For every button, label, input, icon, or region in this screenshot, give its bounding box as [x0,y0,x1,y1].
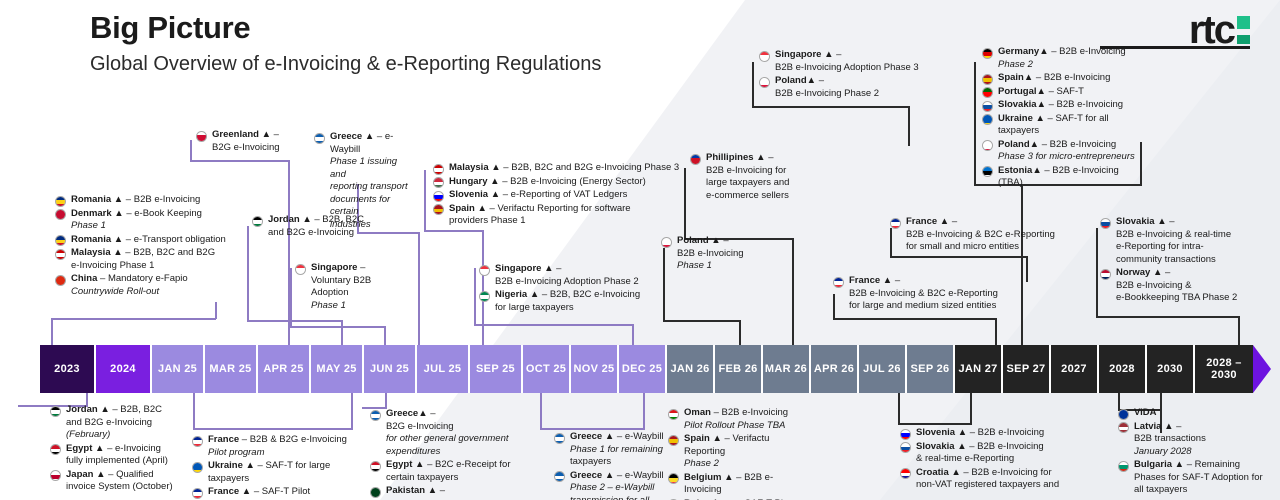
annotation-detail: ▲ – [1155,216,1175,227]
annotation-malaysia-group: Malaysia ▲ – B2B, B2C and B2G e-Invoicin… [433,162,688,229]
annotation-main-line: Slovakia ▲ – [1116,216,1175,227]
timeline-segment[interactable]: DEC 25 [619,345,667,393]
annotation-france-small: France ▲ –B2B e-Invoicing & B2C e-Report… [890,216,1055,255]
annotation-row: Spain ▲ – Verifactu Reporting for softwa… [433,203,688,228]
connector [739,320,741,346]
annotation-phillipines: Phillipines ▲ –B2B e-Invoicing forlarge … [690,152,798,203]
page-title: Big Picture [90,10,601,46]
annotation-main-line: Singapore ▲ – [775,49,841,60]
connector [357,232,419,234]
connector [290,268,292,328]
annotation-text: Latvia ▲ –B2B transactionsJanuary 2028 [1134,421,1280,459]
country-name: Greece [386,408,418,419]
connector [995,318,997,346]
annotation-detail: ▲ – e-Waybill [602,431,663,442]
annotation-detail: ▲ – e-Waybill [602,470,663,481]
annotation-detail: ▲ – e-Book Keeping [112,208,202,219]
annotation-text: Japan ▲ – Qualifiedinvoice System (Octob… [66,469,180,494]
annotation-main-line: Singapore – [311,262,365,273]
annotation-text: Jordan ▲ – B2B, B2Cand B2G e-Invoicing [268,214,364,239]
annotation-subline: Phase 2 – e-Waybill [570,482,664,495]
annotation-detail: ▲ – B2B, B2C and B2G [111,247,215,258]
annotation-text: Estonia▲ – B2B e-Invoicing (TBA) [998,165,1142,190]
annotation-main-line: Greenland ▲ – [212,129,279,140]
annotation-text: Bulgaria ▲ – RemainingPhases for SAF-T A… [1134,459,1280,497]
annotation-row: Slovenia ▲ – e-Reporting of VAT Ledgers [433,189,688,202]
annotation-text: Slovakia ▲ –B2B e-Invoicing & real-timee… [1116,216,1250,266]
spain-flag [668,435,679,446]
connector [663,320,741,322]
annotation-detail: ▲ – [1161,421,1181,432]
annotation-subline: Phase 1 issuing and [330,156,414,181]
bulgaria-flag [1118,461,1129,472]
annotation-detail: ▲ – e-Transport obligation [111,234,226,245]
annotation-row: Jordan ▲ – B2B, B2Cand B2G e-Invoicing [252,214,364,239]
annotation-detail: ▲ – [807,75,824,86]
annotation-detail: – Mandatory e-Fapio [97,273,187,284]
annotation-row: Egypt ▲ – B2C e-Receipt forcertain taxpa… [370,459,525,484]
annotation-detail: ▲ – B2B e-Invoicing [955,427,1044,438]
connector [898,393,900,425]
annotation-row: Bulgaria ▲ – RemainingPhases for SAF-T A… [1118,459,1280,497]
timeline-segment[interactable]: SEP 27 [1003,345,1051,393]
annotation-row: Poland ▲ –B2B e-InvoicingPhase 1 [661,235,756,273]
country-name: Greece [570,470,602,481]
annotation-text: Jordan ▲ – B2B, B2Cand B2G e-Invoicing(F… [66,404,180,442]
ukraine-flag [192,462,203,473]
connector [190,160,290,162]
connector [215,302,217,319]
slovakia-flag [900,442,911,453]
annotation-greece-b2g: Greece▲ –B2G e-Invoicingfor other genera… [370,408,525,499]
annotation-text: Phillipines ▲ –B2B e-Invoicing forlarge … [706,152,798,202]
annotation-row: Belgium ▲ – B2B e-Invoicing [668,472,803,497]
connector [540,393,542,429]
annotation-detail: ▲ – [754,152,774,163]
annotation-greece-waybill-2: Greece ▲ – e-WaybillPhase 1 for remainin… [554,431,664,500]
annotation-france-pilot: France – B2B & B2G e-InvoicingPilot prog… [192,434,347,500]
connector [908,106,910,146]
connector [974,62,976,184]
connector [190,140,192,162]
connector [384,326,386,346]
annotation-main-line: France ▲ – [849,275,900,286]
timeline-segment[interactable]: 2028 – 2030 [1195,345,1253,393]
timeline-segment[interactable]: APR 26 [811,345,859,393]
timeline-segment[interactable]: JAN 27 [955,345,1003,393]
annotation-detail: – [357,262,365,273]
annotation-detail: ▲ – B2B e-Invoicing (Energy Sector) [488,176,646,187]
portugal-flag [982,87,993,98]
timeline-segment[interactable]: MAR 25 [205,345,258,393]
annotation-text: Germany▲ – B2B e-InvoicingPhase 2 [998,46,1142,71]
country-name: Croatia [916,467,949,478]
france-flag [890,218,901,229]
connector [247,226,249,322]
france-flag [192,488,203,499]
annotation-text: Greece▲ –B2G e-Invoicingfor other genera… [386,408,525,458]
annotation-main-line: Poland ▲ – [677,235,729,246]
timeline-segment[interactable]: 2023 [40,345,96,393]
connector [1096,316,1240,318]
annotation-jordan-2: Jordan ▲ – B2B, B2Cand B2G e-Invoicing [252,214,364,240]
timeline-segment[interactable]: NOV 25 [571,345,619,393]
country-name: Poland [775,75,807,86]
country-name: Singapore [311,262,357,273]
annotation-text: Poland▲ –B2B e-Invoicing Phase 2 [775,75,929,100]
annotation-subline: Phase 3 for micro-entrepreneurs [998,151,1142,164]
jordan-flag [252,216,263,227]
annotation-text: France ▲ – SAF-T Pilot [208,486,347,499]
annotation-detail: ▲ – [709,235,729,246]
singapore-flag [295,264,306,275]
slovakia-flag [982,101,993,112]
annotation-main-line: Nigeria ▲ – B2B, B2C e-Invoicing [495,289,640,300]
norway-flag [1100,269,1111,280]
annotation-main-line: Spain ▲ – Verifactu Reporting [684,433,769,457]
annotation-romania-2023: Romania ▲ – B2B e-InvoicingDenmark ▲ – e… [55,194,230,299]
annotation-subline: Pilot program [208,447,347,460]
annotation-singapore-2: Singapore ▲ –B2B e-Invoicing Adoption Ph… [479,263,649,315]
annotation-subline: B2B transactions [1134,433,1280,446]
annotation-singapore-3: Singapore ▲ –B2B e-Invoicing Adoption Ph… [759,49,929,101]
annotation-main-line: Portugal▲ – SAF-T [998,86,1084,97]
annotation-main-line: Egypt ▲ – e-Invoicing [66,443,161,454]
annotation-subline: Phase 2 [684,458,803,471]
annotation-row: Malaysia ▲ – B2B, B2C and B2G e-Invoicin… [433,162,688,175]
connector [890,256,1028,258]
annotation-main-line: Romania ▲ – e-Transport obligation [71,234,226,245]
jordan-flag [50,406,61,417]
country-name: Bulgaria [1134,459,1172,470]
annotation-slovakia-norway: Slovakia ▲ –B2B e-Invoicing & real-timee… [1100,216,1250,306]
annotation-subline: Adoption [311,287,385,300]
germany-flag [982,48,993,59]
connector [632,324,634,346]
annotation-subline: taxpayers [570,456,664,469]
timeline-segment[interactable]: 2028 [1099,345,1147,393]
annotation-text: France – B2B & B2G e-InvoicingPilot prog… [208,434,347,459]
timeline-segment[interactable]: SEP 25 [470,345,523,393]
country-name: Romania [71,194,111,205]
annotation-row: Slovakia ▲ – B2B e-Invoicing& real-time … [900,441,1080,466]
denmark-flag [55,209,66,220]
annotation-row: Hungary ▲ – B2B e-Invoicing (Energy Sect… [433,176,688,189]
greece-flag [554,471,565,482]
connector [752,62,754,108]
annotation-germany-group: Germany▲ – B2B e-InvoicingPhase 2Spain▲ … [982,46,1142,191]
annotation-main-line: Norway ▲ – [1116,267,1170,278]
timeline-segment[interactable]: JUL 25 [417,345,470,393]
annotation-subline: large taxpayers and [706,177,798,190]
connector [1026,256,1028,282]
annotation-row: Oman – B2B e-InvoicingPilot Rollout Phas… [668,407,803,432]
connector [418,232,420,346]
annotation-main-line: Latvia ▲ – [1134,421,1181,432]
annotation-row: Nigeria ▲ – B2B, B2C e-Invoicingfor larg… [479,289,649,314]
annotation-main-line: France ▲ – [906,216,957,227]
annotation-subline: Phase 1 [677,260,756,273]
france-flag [192,436,203,447]
timeline-segment[interactable]: APR 25 [258,345,311,393]
annotation-detail: ▲ – B2B, B2C [300,214,364,225]
connector [193,428,353,430]
annotation-text: Romania ▲ – B2B e-Invoicing [71,194,230,207]
annotation-subline: Phase 2 [998,59,1142,72]
annotation-detail: ▲ – Qualified [93,469,153,480]
annotation-row: Egypt ▲ – e-Invoicingfully implemented (… [50,443,180,468]
annotation-detail: ▲ – B2B e-Invoicing [111,194,200,205]
timeline-segment[interactable]: JUN 25 [364,345,417,393]
annotation-text: Spain ▲ – Verifactu ReportingPhase 2 [684,433,803,471]
annotation-main-line: Malaysia ▲ – B2B, B2C and B2G [71,247,215,258]
logo-underline [1100,46,1250,49]
annotation-text: Slovenia ▲ – B2B e-Invoicing [916,427,1080,440]
annotation-subline: B2B e-Invoicing & B2C e-Reporting [849,288,1008,301]
annotation-text: Belgium ▲ – B2B e-Invoicing [684,472,803,497]
annotation-text: France ▲ –B2B e-Invoicing & B2C e-Report… [849,275,1008,313]
annotation-row: France ▲ –B2B e-Invoicing & B2C e-Report… [833,275,1008,313]
annotation-main-line: Spain ▲ – Verifactu Reporting for softwa… [449,203,631,214]
china-flag [55,275,66,286]
country-name: Portugal [998,86,1037,97]
annotation-detail: ▲ – B2B e-Invoicing [1030,139,1117,150]
annotation-row: Greenland ▲ –B2G e-Invoicing [196,129,291,154]
annotation-row: Ukraine ▲ – SAF-T for all taxpayers [982,113,1142,138]
annotation-text: Greece ▲ – e-WaybillPhase 1 for remainin… [570,431,664,469]
annotation-subline: B2B e-Invoicing for [706,165,798,178]
malaysia-flag [55,249,66,260]
timeline-arrow-icon [1253,345,1271,393]
connector [51,318,216,320]
country-name: Nigeria [495,289,527,300]
connector [424,170,426,232]
timeline-segment[interactable]: 2027 [1051,345,1099,393]
annotation-row: Jordan ▲ – B2B, B2Cand B2G e-Invoicing(F… [50,404,180,442]
annotation-main-line: Spain▲ – B2B e-Invoicing [998,72,1110,83]
annotation-row: Pakistan ▲ – [370,485,525,498]
country-name: Malaysia [449,162,489,173]
annotation-france-large: France ▲ –B2B e-Invoicing & B2C e-Report… [833,275,1008,314]
annotation-row: Spain▲ – B2B e-Invoicing [982,72,1142,85]
annotation-row: Poland▲ –B2B e-Invoicing Phase 2 [759,75,929,100]
greece-flag [554,433,565,444]
slovenia-flag [433,191,444,202]
connector [424,230,484,232]
annotation-main-line: Egypt ▲ – B2C e-Receipt for [386,459,511,470]
annotation-detail: – B2B & B2G e-Invoicing [239,434,347,445]
annotation-subline: B2B e-Invoicing & [1116,280,1250,293]
annotation-subline: transmission for all [570,495,664,500]
connector [51,318,53,346]
annotation-slovenia-group: Slovenia ▲ – B2B e-InvoicingSlovakia ▲ –… [900,427,1080,493]
annotation-main-line: Croatia ▲ – B2B e-Invoicing for [916,467,1052,478]
country-name: China [71,273,97,284]
annotation-main-line: Belgium ▲ – B2B e-Invoicing [684,472,773,496]
annotation-main-line: Jordan ▲ – B2B, B2C [66,404,162,415]
annotation-jordan-2023: Jordan ▲ – B2B, B2Cand B2G e-Invoicing(F… [50,404,180,495]
annotation-text: China – Mandatory e-FapioCountrywide Rol… [71,273,230,298]
timeline-segment[interactable]: FEB 26 [715,345,763,393]
annotation-text: Malaysia ▲ – B2B, B2C and B2G e-Invoicin… [449,162,688,175]
connector [970,393,972,425]
greece-flag [370,410,381,421]
croatia-flag [900,468,911,479]
annotation-subline: and B2G e-Invoicing [66,417,180,430]
connector [752,106,910,108]
slovenia-flag [900,429,911,440]
annotation-main-line: Slovakia▲ – B2B e-Invoicing [998,99,1123,110]
country-name: Egypt [66,443,92,454]
annotation-subline: certain taxpayers [386,472,525,485]
annotation-subline: fully implemented (April) [66,455,180,468]
connector [792,238,794,346]
annotation-text: Romania ▲ – e-Transport obligation [71,234,230,247]
annotation-text: Slovakia▲ – B2B e-Invoicing [998,99,1142,112]
country-name: Latvia [1134,421,1161,432]
annotation-subline: community transactions [1116,254,1250,267]
annotation-subline: taxpayers [208,473,347,486]
annotation-subline: Countrywide Roll-out [71,286,230,299]
annotation-row: Slovakia▲ – B2B e-Invoicing [982,99,1142,112]
timeline-segment[interactable]: JAN 26 [667,345,715,393]
country-name: Estonia [998,165,1032,176]
annotation-subline: invoice System (October) [66,481,180,494]
annotation-subline: & real-time e-Reporting [916,453,1080,466]
annotation-subline: e-commerce sellers [706,190,798,203]
annotation-text: Nigeria ▲ – B2B, B2C e-Invoicingfor larg… [495,289,649,314]
annotation-main-line: Bulgaria ▲ – Remaining [1134,459,1240,470]
infographic-root: Big Picture Global Overview of e-Invoici… [0,0,1280,500]
annotation-subline: expenditures [386,446,525,459]
country-name: Denmark [71,208,112,219]
annotation-text: Egypt ▲ – B2C e-Receipt forcertain taxpa… [386,459,525,484]
romania-flag [55,196,66,207]
annotation-text: Pakistan ▲ – [386,485,525,498]
annotation-row: France ▲ –B2B e-Invoicing & B2C e-Report… [890,216,1055,254]
annotation-subline: January 2028 [1134,446,1280,459]
pakistan-flag [370,487,381,498]
annotation-main-line: Oman – B2B e-Invoicing [684,407,788,418]
timeline-segment[interactable]: JAN 25 [152,345,205,393]
annotation-subline: for large and medium sized entities [849,300,1008,313]
annotation-main-line: ViDA [1134,407,1157,418]
annotation-main-line: Slovenia ▲ – B2B e-Invoicing [916,427,1044,438]
country-name: Hungary [449,176,488,187]
timeline-segment[interactable]: MAR 26 [763,345,811,393]
annotation-main-line: Poland▲ – [775,75,824,86]
country-name: Slovakia [916,441,955,452]
belgium-flag [668,473,679,484]
annotation-row: Singapore –Voluntary B2BAdoptionPhase 1 [295,262,385,312]
eu-flag [1118,409,1129,420]
annotation-detail: ▲ – SAF-T Pilot [239,486,310,497]
timeline-segment[interactable]: MAY 25 [311,345,364,393]
annotation-subline: and B2G e-Invoicing [268,227,364,240]
country-name: Germany [998,46,1039,57]
slovakia-flag [1100,218,1111,229]
country-name: Spain [998,72,1024,83]
annotation-subline: (February) [66,429,180,442]
annotation-subline: B2G e-Invoicing [212,142,291,155]
annotation-text: Spain ▲ – Verifactu Reporting for softwa… [449,203,688,228]
annotation-subline: reporting transport [330,181,414,194]
annotation-main-line: China – Mandatory e-Fapio [71,273,188,284]
timeline-segment[interactable]: 2024 [96,345,152,393]
annotation-detail: ▲ – B2B e-Invoicing [1037,99,1124,110]
annotation-text: France ▲ –B2B e-Invoicing & B2C e-Report… [906,216,1055,254]
annotation-detail: ▲ – [937,216,957,227]
hungary-flag [433,177,444,188]
annotation-row: China – Mandatory e-FapioCountrywide Rol… [55,273,230,298]
annotation-text: Singapore –Voluntary B2BAdoptionPhase 1 [311,262,385,312]
annotation-text: Greenland ▲ –B2G e-Invoicing [212,129,291,154]
timeline-segment[interactable]: OCT 25 [523,345,571,393]
country-name: Romania [71,234,111,245]
annotation-row: Latvia ▲ –B2B transactionsJanuary 2028 [1118,421,1280,459]
country-name: Singapore [495,263,541,274]
singapore-flag [479,265,490,276]
annotation-row: Portugal▲ – SAF-T [982,86,1142,99]
annotation-main-line: Ukraine ▲ – SAF-T for all taxpayers [998,113,1109,137]
timeline-segment[interactable]: SEP 26 [907,345,955,393]
annotation-vida-group: ViDALatvia ▲ –B2B transactionsJanuary 20… [1118,407,1280,498]
annotation-row: Germany▲ – B2B e-InvoicingPhase 2 [982,46,1142,71]
connector [833,318,997,320]
spain-flag [433,204,444,215]
annotation-text: Denmark ▲ – e-Book KeepingPhase 1 [71,208,230,233]
annotation-detail: ▲ – B2B e-Invoicing [955,441,1044,452]
annotation-main-line: Phillipines ▲ – [706,152,773,163]
annotation-detail: ▲ – Verifactu Reporting for software [475,203,631,214]
annotation-row: Ukraine ▲ – SAF-T for largetaxpayers [192,460,347,485]
annotation-row: Estonia▲ – B2B e-Invoicing (TBA) [982,165,1142,190]
country-name: Egypt [386,459,412,470]
annotation-row: Romania ▲ – e-Transport obligation [55,234,230,247]
annotation-text: Ukraine ▲ – SAF-T for largetaxpayers [208,460,347,485]
annotation-subline: B2B e-Invoicing [677,248,756,261]
annotation-main-line: Denmark ▲ – e-Book Keeping [71,208,202,219]
connector [247,320,343,322]
annotation-row: Denmark ▲ – e-Book KeepingPhase 1 [55,208,230,233]
egypt-flag [50,444,61,455]
country-name: France [849,275,880,286]
annotation-detail: ▲ – [821,49,841,60]
annotation-row: ViDA [1118,407,1280,420]
country-name: Jordan [268,214,300,225]
connector [290,326,386,328]
annotation-subline: for small and micro entities [906,241,1055,254]
annotation-main-line: Pakistan ▲ – [386,485,445,496]
country-name: Phillipines [706,152,754,163]
annotation-row: Greece ▲ – e-WaybillPhase 2 – e-Waybillt… [554,470,664,500]
annotation-row: Japan ▲ – Qualifiedinvoice System (Octob… [50,469,180,494]
timeline-segment[interactable]: 2030 [1147,345,1195,393]
annotation-text: Hungary ▲ – B2B e-Invoicing (Energy Sect… [449,176,688,189]
annotation-main-line: Greece ▲ – e-Waybill [330,131,393,155]
timeline-strip: 20232024JAN 25MAR 25APR 25MAY 25JUN 25JU… [40,345,1271,393]
connector [474,268,476,326]
annotation-detail: ▲ – B2B, B2C and B2G e-Invoicing Phase 3 [489,162,680,173]
annotation-subline: e-Invoicing Phase 1 [71,260,230,273]
annotation-text: Ukraine ▲ – SAF-T for all taxpayers [998,113,1142,138]
timeline-segment[interactable]: JUL 26 [859,345,907,393]
annotation-row: Singapore ▲ –B2B e-Invoicing Adoption Ph… [759,49,929,74]
country-name: Jordan [66,404,98,415]
annotation-subline: providers Phase 1 [449,215,688,228]
spain-flag [982,74,993,85]
annotation-subline: e-Reporting for intra- [1116,241,1250,254]
